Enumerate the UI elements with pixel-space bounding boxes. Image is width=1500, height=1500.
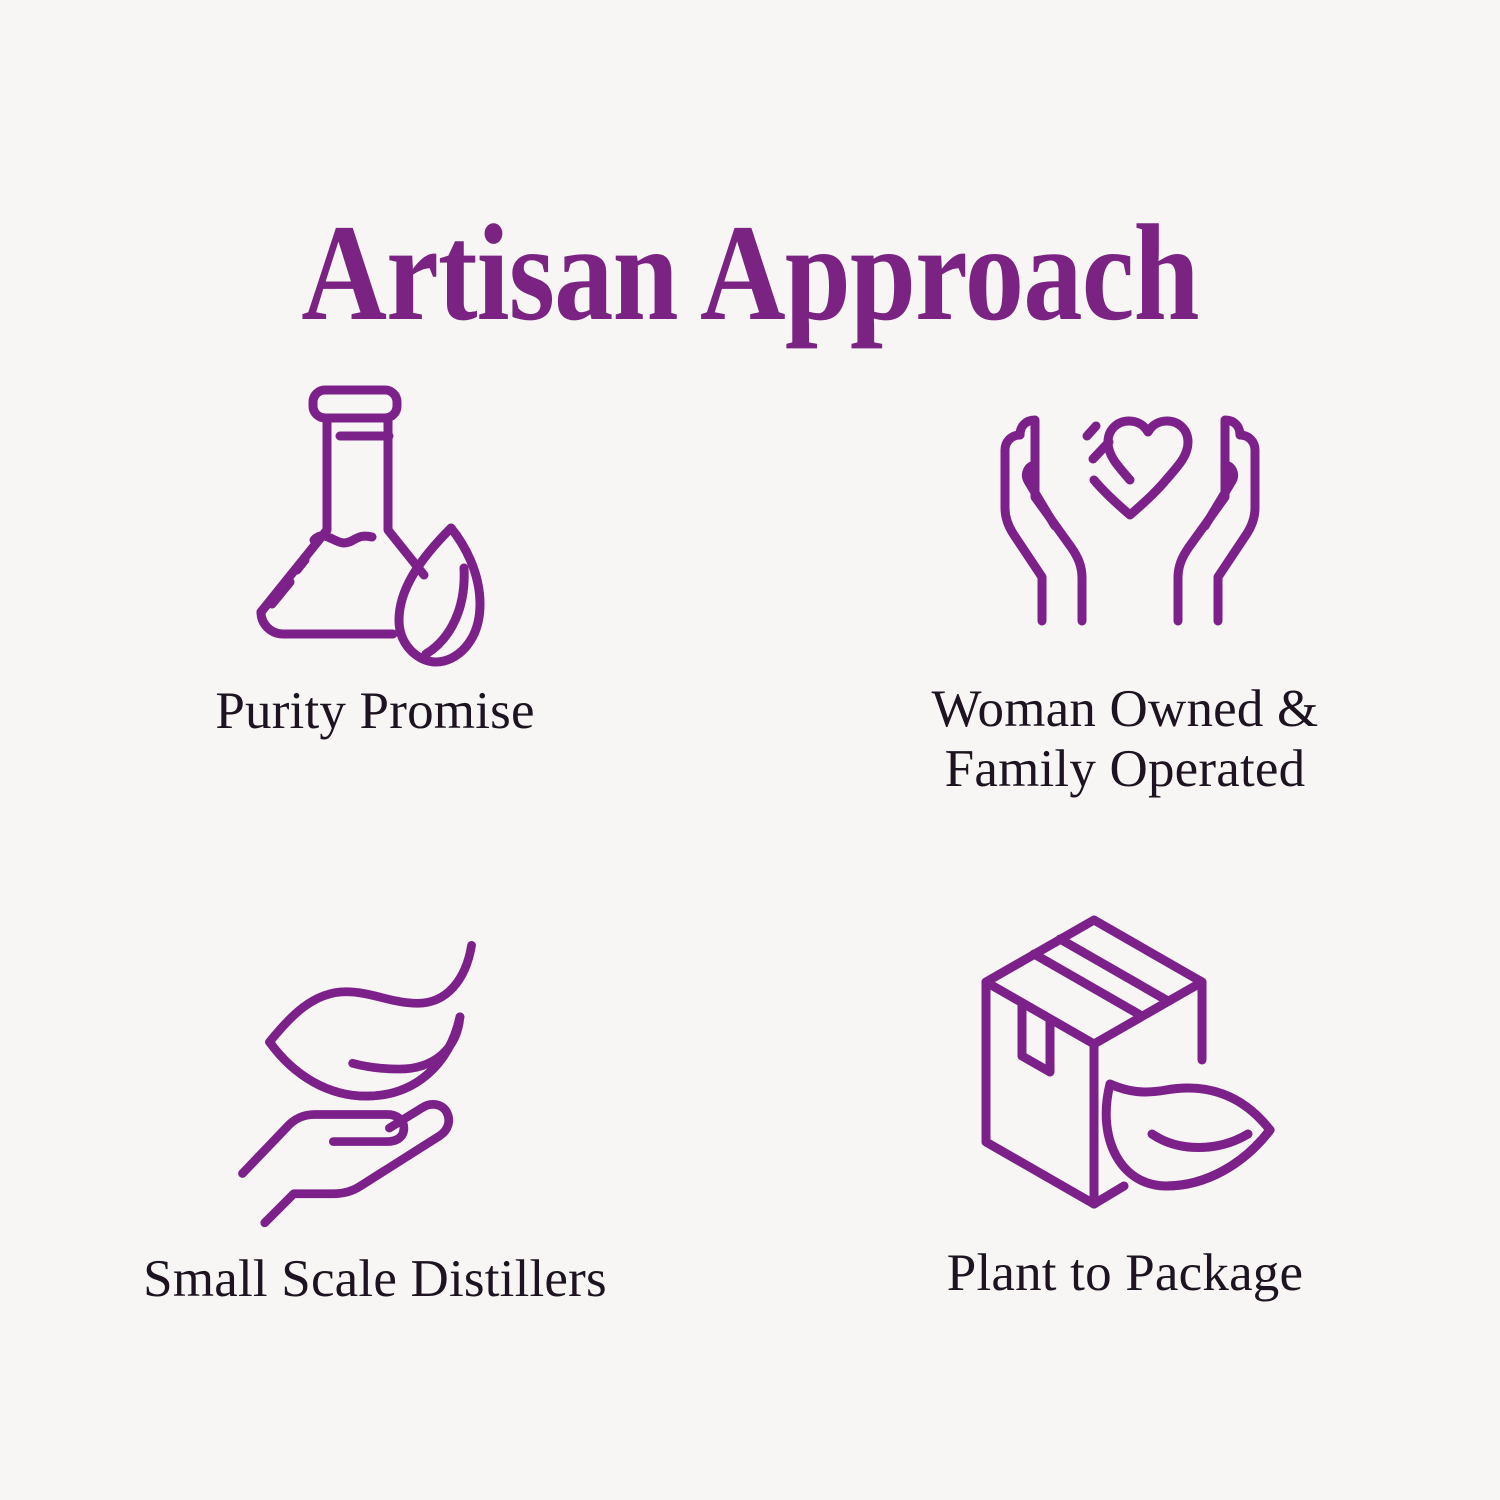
page-title: Artisan Approach <box>105 204 1395 342</box>
feature-item-woman-owned: Woman Owned & Family Operated <box>750 360 1500 880</box>
box-leaf-icon <box>972 914 1292 1214</box>
feature-item-small-scale-distillers: Small Scale Distillers <box>0 880 750 1400</box>
feature-item-plant-to-package: Plant to Package <box>750 880 1500 1400</box>
feature-label: Woman Owned & Family Operated <box>932 680 1319 800</box>
feature-grid: Purity Promise <box>0 360 1500 1400</box>
flask-leaf-icon <box>228 360 528 660</box>
hands-holding-heart-icon <box>980 360 1280 660</box>
leaf-in-hand-icon <box>227 926 517 1216</box>
artisan-approach-infographic: Artisan Approach <box>0 0 1500 1500</box>
feature-item-purity-promise: Purity Promise <box>0 360 750 880</box>
feature-label: Purity Promise <box>215 682 534 742</box>
feature-label: Small Scale Distillers <box>143 1250 607 1310</box>
feature-label: Plant to Package <box>947 1244 1303 1304</box>
